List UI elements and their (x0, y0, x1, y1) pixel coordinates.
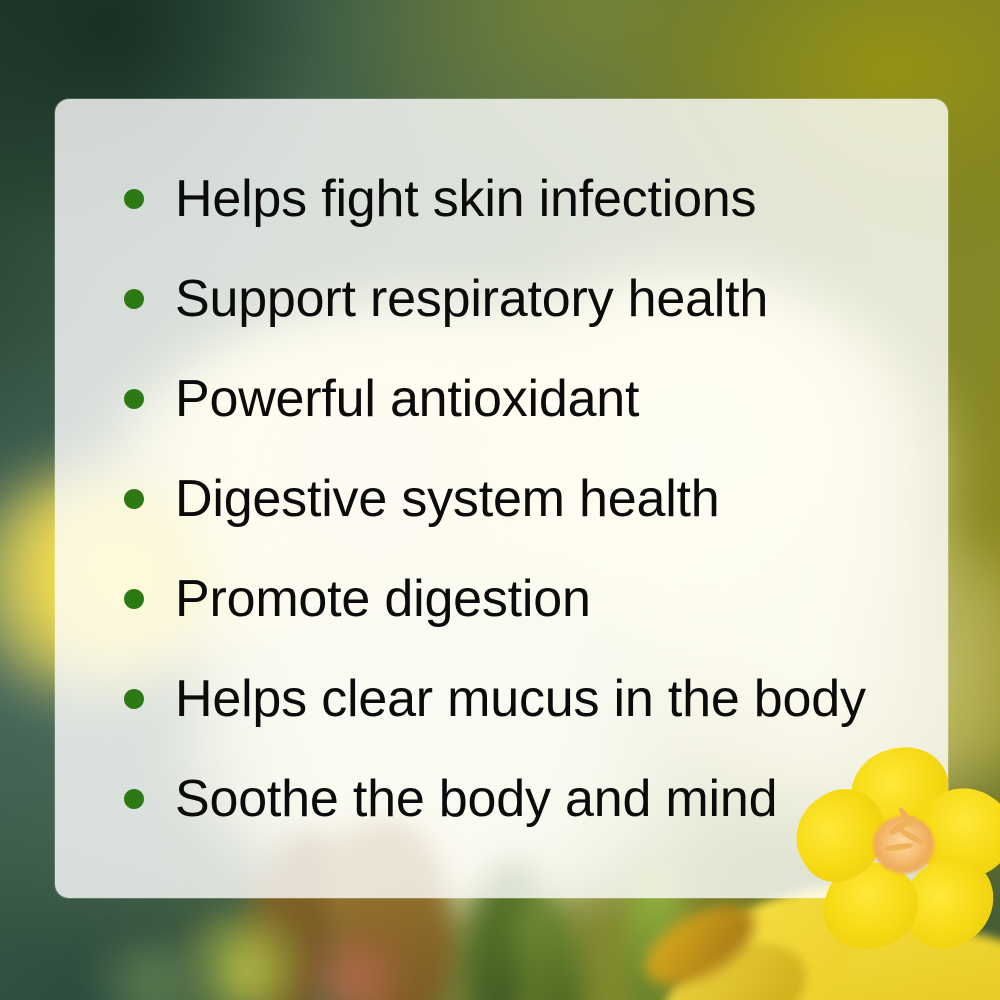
list-item: Digestive system health (124, 467, 720, 531)
green-dot-bullet-icon (124, 689, 144, 709)
benefit-text: Digestive system health (175, 473, 720, 525)
green-dot-bullet-icon (124, 789, 144, 809)
green-dot-bullet-icon (124, 589, 144, 609)
benefit-text: Powerful antioxidant (175, 373, 639, 425)
green-dot-bullet-icon (124, 489, 144, 509)
benefit-text: Promote digestion (175, 573, 591, 625)
benefit-text: Helps fight skin infections (175, 173, 756, 225)
green-dot-bullet-icon (124, 189, 144, 209)
list-item: Powerful antioxidant (124, 367, 639, 431)
list-item: Promote digestion (124, 567, 591, 631)
benefits-graphic: Helps fight skin infections Support resp… (0, 0, 1000, 1000)
list-item: Support respiratory health (124, 267, 768, 331)
green-dot-bullet-icon (124, 289, 144, 309)
benefit-text: Helps clear mucus in the body (175, 673, 866, 725)
benefit-text: Soothe the body and mind (175, 773, 777, 825)
list-item: Helps fight skin infections (124, 167, 756, 231)
green-dot-bullet-icon (124, 389, 144, 409)
list-item: Soothe the body and mind (124, 767, 777, 831)
list-item: Helps clear mucus in the body (124, 667, 866, 731)
foreground-yellow-flower-sharp (795, 748, 1000, 948)
benefit-text: Support respiratory health (175, 273, 768, 325)
